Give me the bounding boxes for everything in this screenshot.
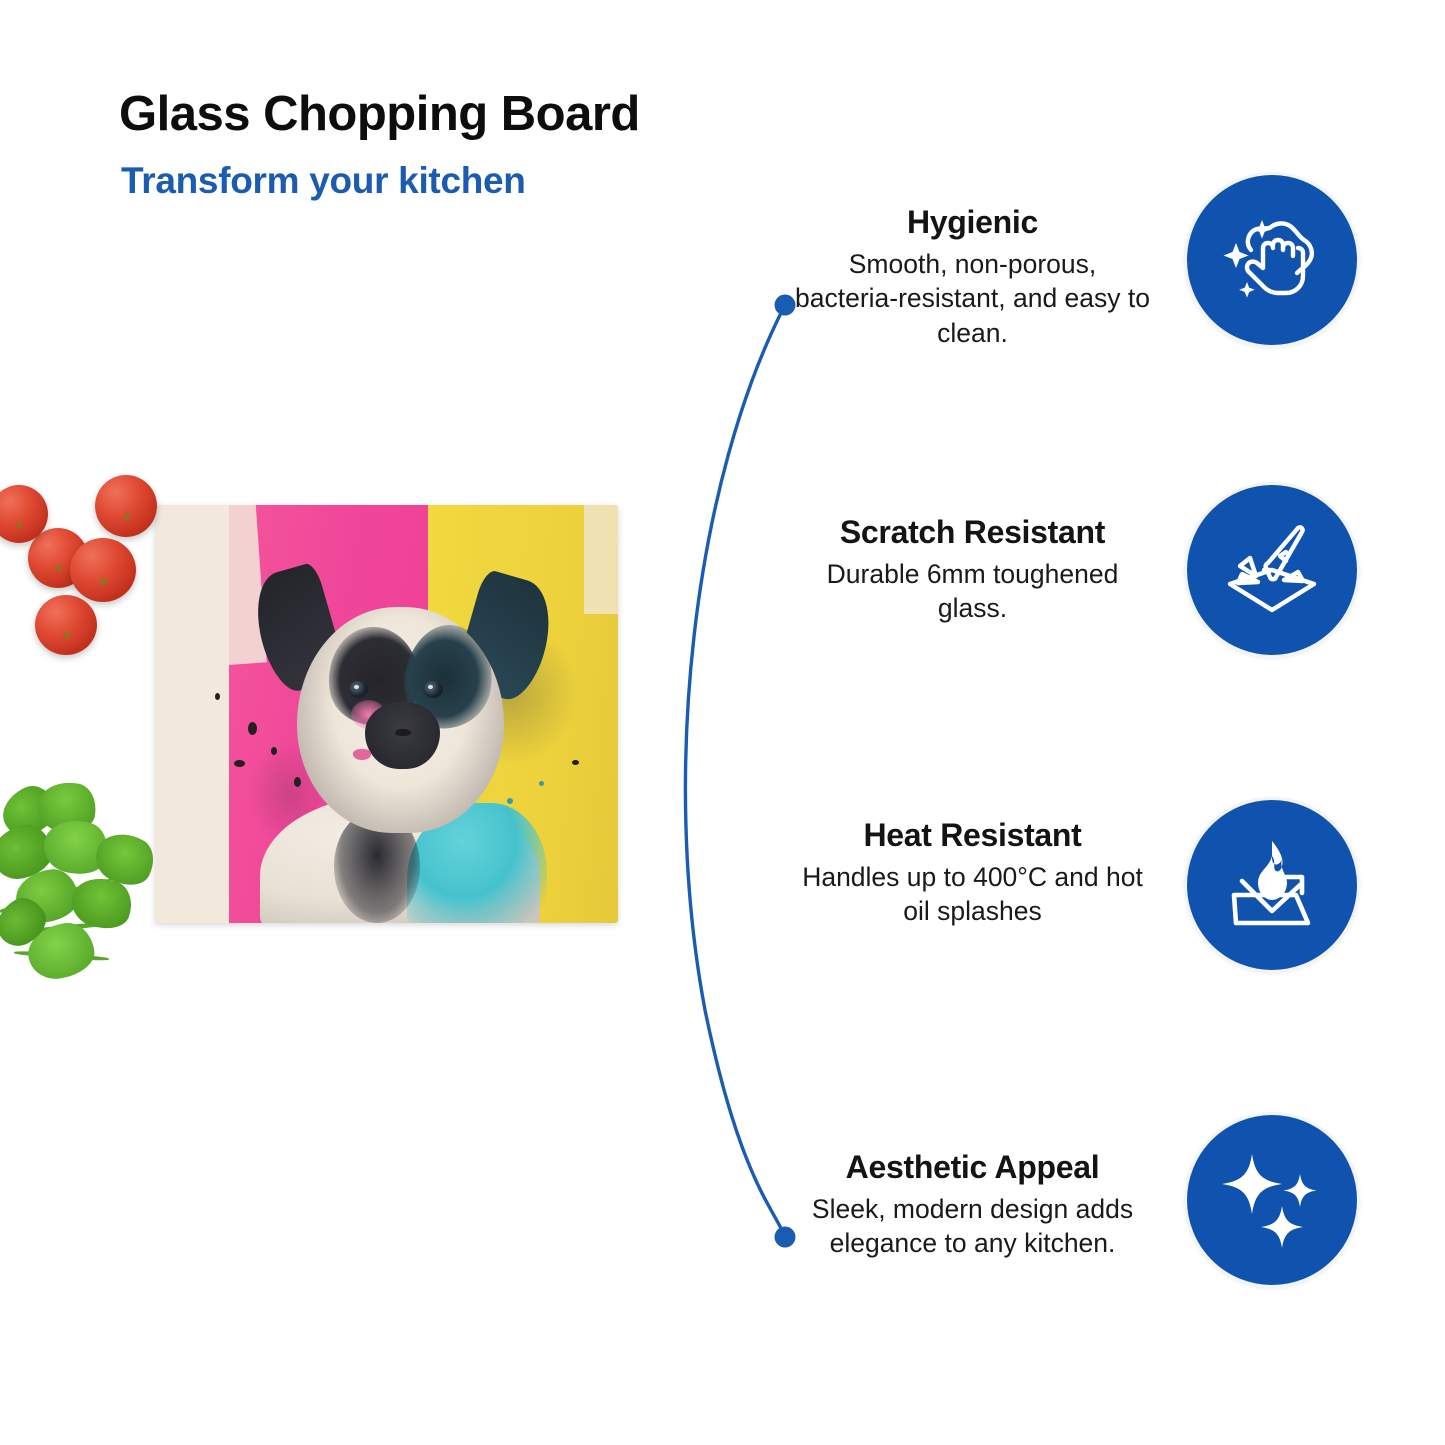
page-title: Glass Chopping Board [119,86,640,142]
knife-impact-surface-icon[interactable] [1184,482,1360,658]
feature-description: Smooth, non-porous, bacteria-resistant, … [795,247,1150,350]
feature-title: Heat Resistant [795,818,1150,854]
sparkles-icon[interactable] [1184,1112,1360,1288]
cherry-tomato [70,538,136,602]
connector-dot-bottom [775,1227,796,1248]
dog-nose [395,729,411,736]
cherry-tomato [35,595,97,655]
dog-tongue [353,749,372,760]
product-image [0,430,660,1000]
dog-muzzle [365,702,439,770]
flame-deflect-arrow-icon[interactable] [1184,797,1360,973]
feature-title: Hygienic [795,205,1150,241]
chopping-board-artwork [155,505,618,923]
hand-wipe-sparkle-icon[interactable] [1184,172,1360,348]
connector-dot-top [775,295,796,316]
cherry-tomato [95,475,157,537]
infographic-canvas: Glass Chopping Board Transform your kitc… [0,0,1445,1445]
connector-path [685,305,785,1237]
page-subtitle: Transform your kitchen [121,160,526,202]
bulldog-artwork [234,547,567,923]
feature-title: Aesthetic Appeal [795,1150,1150,1186]
dog-head [297,607,504,833]
feature-description: Handles up to 400°C and hot oil splashes [795,860,1150,929]
feature-description: Sleek, modern design adds elegance to an… [795,1192,1150,1261]
feature-title: Scratch Resistant [795,515,1150,551]
paint-splatter [572,760,579,765]
parsley-garnish [0,782,182,992]
feature-description: Durable 6mm toughened glass. [795,557,1150,626]
